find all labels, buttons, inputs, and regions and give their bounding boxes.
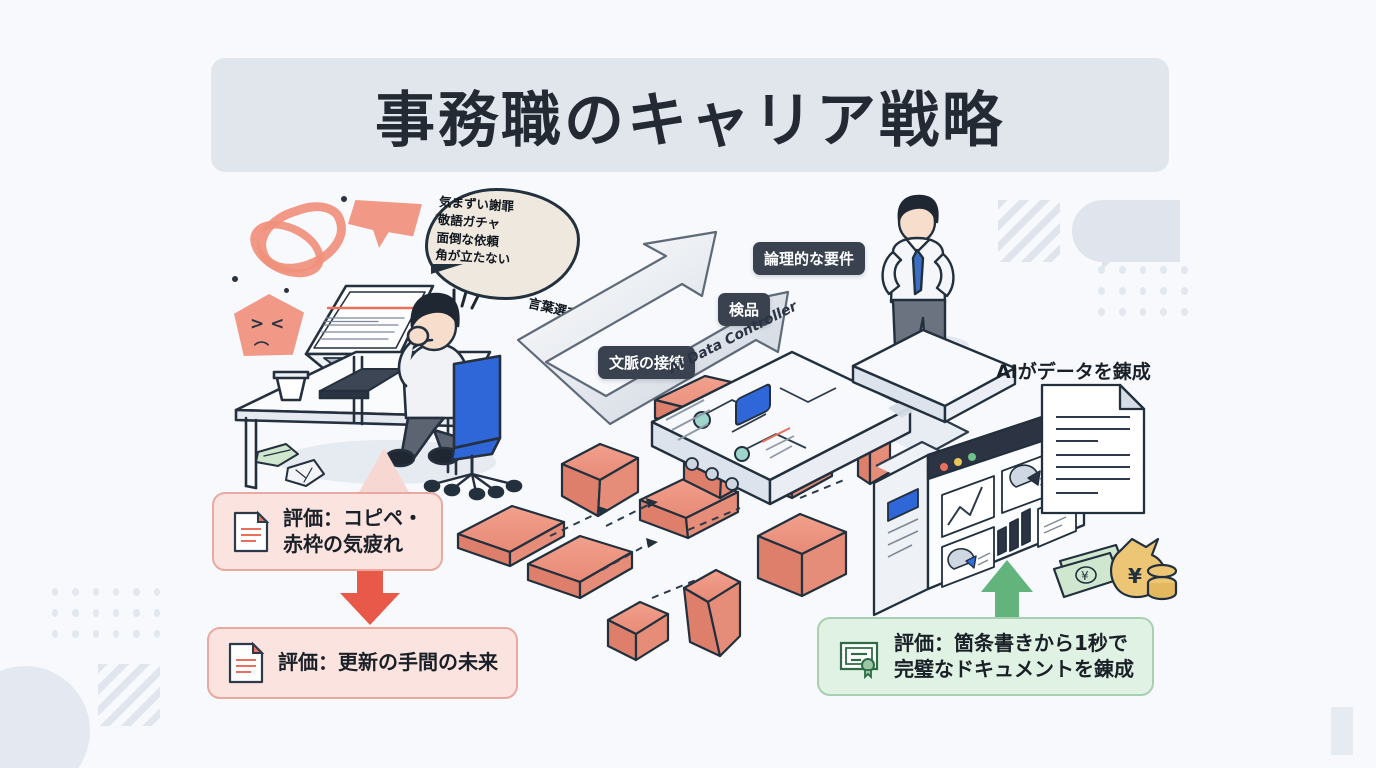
decor-circle-top-right (1072, 200, 1134, 262)
callout-1-line-2: 赤枠の気疲れ (283, 532, 423, 558)
decor-stripes-bottom-left (98, 664, 160, 726)
arrow-up-green-icon (981, 560, 1033, 592)
decor-large-circle-bottom-left (0, 666, 90, 768)
page-title: 事務職のキャリア戦略 (375, 72, 1005, 159)
certificate-icon (837, 635, 881, 679)
decor-dot-grid-top-right (1098, 266, 1188, 318)
document-icon (227, 641, 265, 685)
infographic-canvas: 事務職のキャリア戦略 > < ︵ > < ︵ (0, 0, 1376, 768)
document-icon (232, 510, 270, 554)
decor-quarter-circle-top-right (1105, 200, 1180, 262)
arrow-down-red-stem (357, 568, 383, 596)
callout-1-line-1: 評価：コピペ・ (283, 506, 423, 532)
callout-pain-update-future[interactable]: 評価：更新の手間の未来 (207, 627, 518, 699)
svg-text:¥: ¥ (1081, 569, 1089, 583)
decor-triangle-top-right (1102, 248, 1124, 270)
callout-3-line-2: 完璧なドキュメントを錬成 (894, 657, 1134, 683)
callout-2-line-1: 評価：更新の手間の未来 (278, 650, 498, 676)
callout-gain-one-second-document[interactable]: 評価：箇条書きから1秒で 完璧なドキュメントを錬成 (817, 617, 1154, 696)
ai-headline-label: AIがデータを錬成 (996, 357, 1151, 384)
decor-rect-bottom-right (1331, 707, 1353, 755)
chip-logical-requirements[interactable]: 論理的な要件 (753, 242, 865, 275)
arrow-down-red-icon (340, 593, 400, 625)
callout-3-line-1: 評価：箇条書きから1秒で (894, 631, 1134, 657)
callout-pain-copypaste[interactable]: 評価：コピペ・ 赤枠の気疲れ (212, 492, 443, 571)
title-banner: 事務職のキャリア戦略 (211, 58, 1169, 172)
decor-dot-grid-bottom-left (52, 588, 160, 644)
svg-text:¥: ¥ (1128, 564, 1142, 588)
